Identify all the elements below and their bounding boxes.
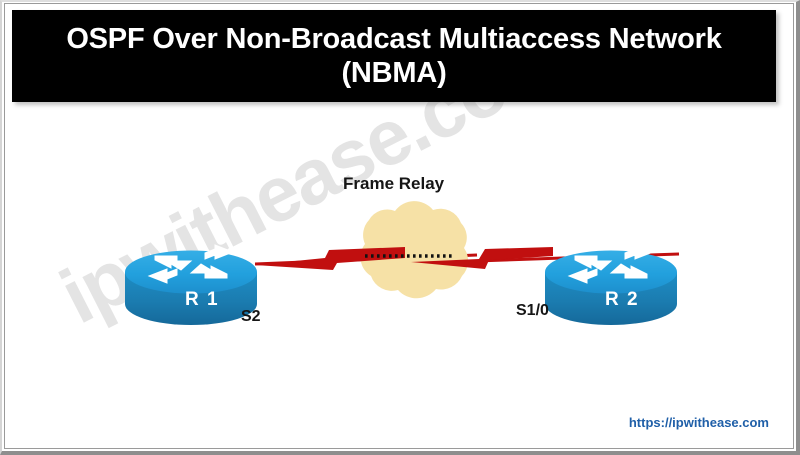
page-title: OSPF Over Non-Broadcast Multiaccess Netw… [48, 22, 739, 90]
title-banner: OSPF Over Non-Broadcast Multiaccess Netw… [12, 10, 776, 102]
frame-relay-label: Frame Relay [343, 174, 444, 194]
router-r2[interactable] [545, 245, 677, 325]
site-url[interactable]: https://ipwithease.com [629, 415, 769, 430]
title-line-1: OSPF Over Non-Broadcast Multiaccess Netw… [66, 23, 721, 55]
interface-label-r2: S1/0 [516, 302, 549, 320]
title-line-2: (NBMA) [341, 57, 446, 89]
router-r2-label: R 2 [605, 289, 639, 311]
diagram-canvas: ipwithease.com OSPF Over Non-Broadcast M… [7, 6, 791, 446]
router-r1-label: R 1 [185, 289, 219, 311]
diagram-page: ipwithease.com OSPF Over Non-Broadcast M… [0, 0, 800, 455]
router-r1[interactable] [125, 245, 257, 325]
interface-label-r1: S2 [241, 308, 261, 326]
